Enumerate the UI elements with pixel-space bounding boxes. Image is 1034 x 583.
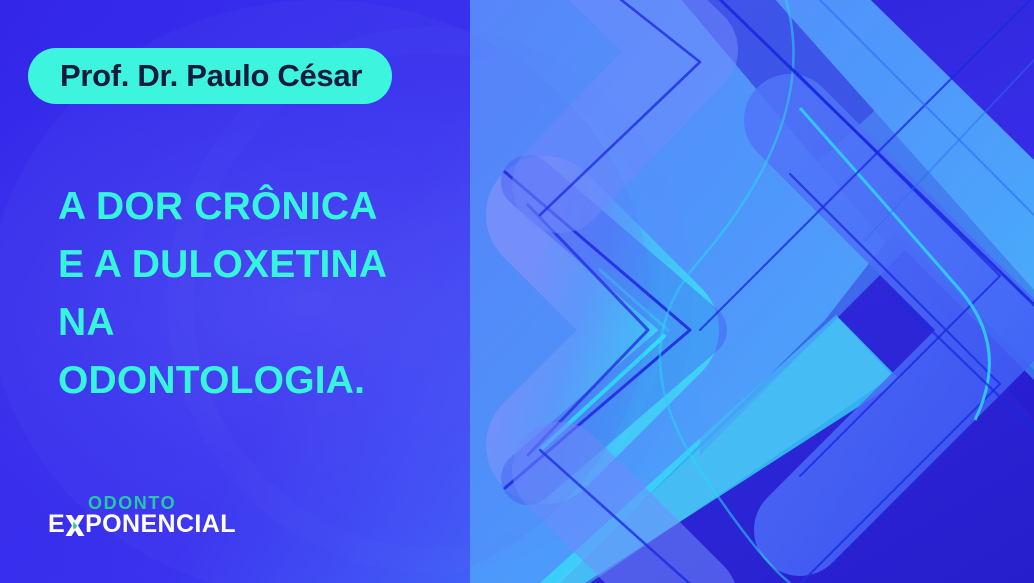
headline-line-3: NA bbox=[58, 294, 528, 352]
headline-line-1: A DOR CRÔNICA bbox=[58, 178, 528, 236]
brand-logo-text-ponencial: PONENCIAL bbox=[85, 510, 236, 539]
speaker-badge: Prof. Dr. Paulo César bbox=[28, 48, 392, 104]
brand-logo-word-exponencial: E PONENCIAL bbox=[48, 510, 236, 539]
brand-logo: ODONTO E PONENCIAL bbox=[48, 493, 238, 541]
brand-logo-letter-e: E bbox=[48, 510, 65, 539]
headline-line-2: E A DULOXETINA bbox=[58, 236, 528, 294]
title-slide: Prof. Dr. Paulo César A DOR CRÔNICA E A … bbox=[0, 0, 1034, 583]
x-logo-mark bbox=[64, 513, 86, 538]
headline: A DOR CRÔNICA E A DULOXETINA NA ODONTOLO… bbox=[58, 178, 528, 410]
slide-content: Prof. Dr. Paulo César A DOR CRÔNICA E A … bbox=[0, 0, 1034, 583]
headline-line-4: ODONTOLOGIA. bbox=[58, 352, 528, 410]
